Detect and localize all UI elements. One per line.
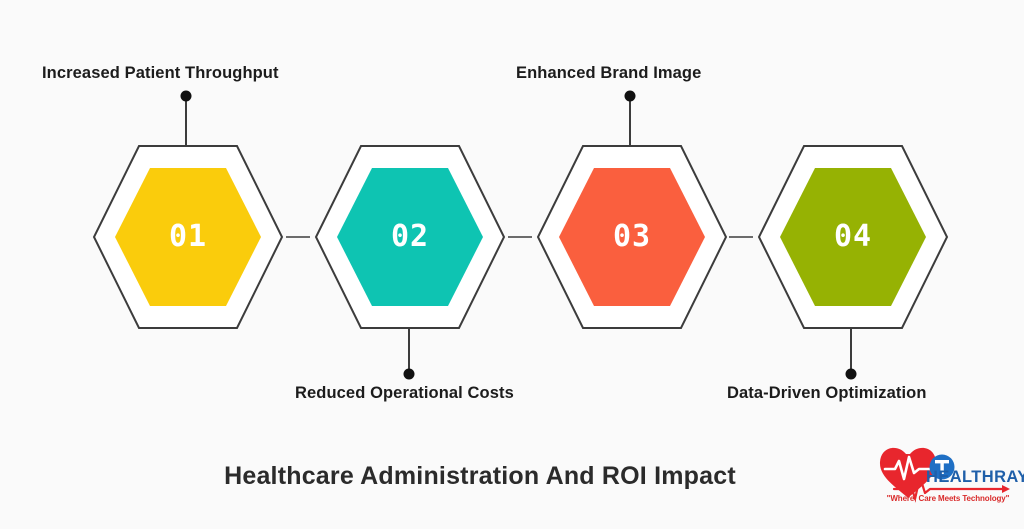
callout-label-step-3: Enhanced Brand Image <box>516 64 701 83</box>
callout-label-step-1: Increased Patient Throughput <box>42 64 279 83</box>
hex-fill-step-4 <box>755 142 951 332</box>
leader-dot-step-2 <box>404 369 415 380</box>
brand-logo[interactable]: HEALTHRAY "Where, Care Meets Technology" <box>876 443 1016 511</box>
leader-dot-step-3 <box>625 91 636 102</box>
hex-node-step-2[interactable]: 02 <box>312 142 508 332</box>
brand-tagline: "Where, Care Meets Technology" <box>880 495 1016 503</box>
page-title: Healthcare Administration And ROI Impact <box>0 462 960 491</box>
hex-fill-step-1 <box>90 142 286 332</box>
hex-node-step-4[interactable]: 04 <box>755 142 951 332</box>
callout-label-step-2: Reduced Operational Costs <box>295 384 514 403</box>
hex-fill-step-2 <box>312 142 508 332</box>
hex-fill-step-3 <box>534 142 730 332</box>
hex-node-step-1[interactable]: 01 <box>90 142 286 332</box>
leader-dot-step-4 <box>846 369 857 380</box>
callout-label-step-4: Data-Driven Optimization <box>727 384 927 403</box>
infographic-canvas: 01 02 03 04 Increased Patient Throughput… <box>0 0 1024 529</box>
brand-wordmark: HEALTHRAY <box>926 469 1024 486</box>
leader-dot-step-1 <box>181 91 192 102</box>
hex-node-step-3[interactable]: 03 <box>534 142 730 332</box>
